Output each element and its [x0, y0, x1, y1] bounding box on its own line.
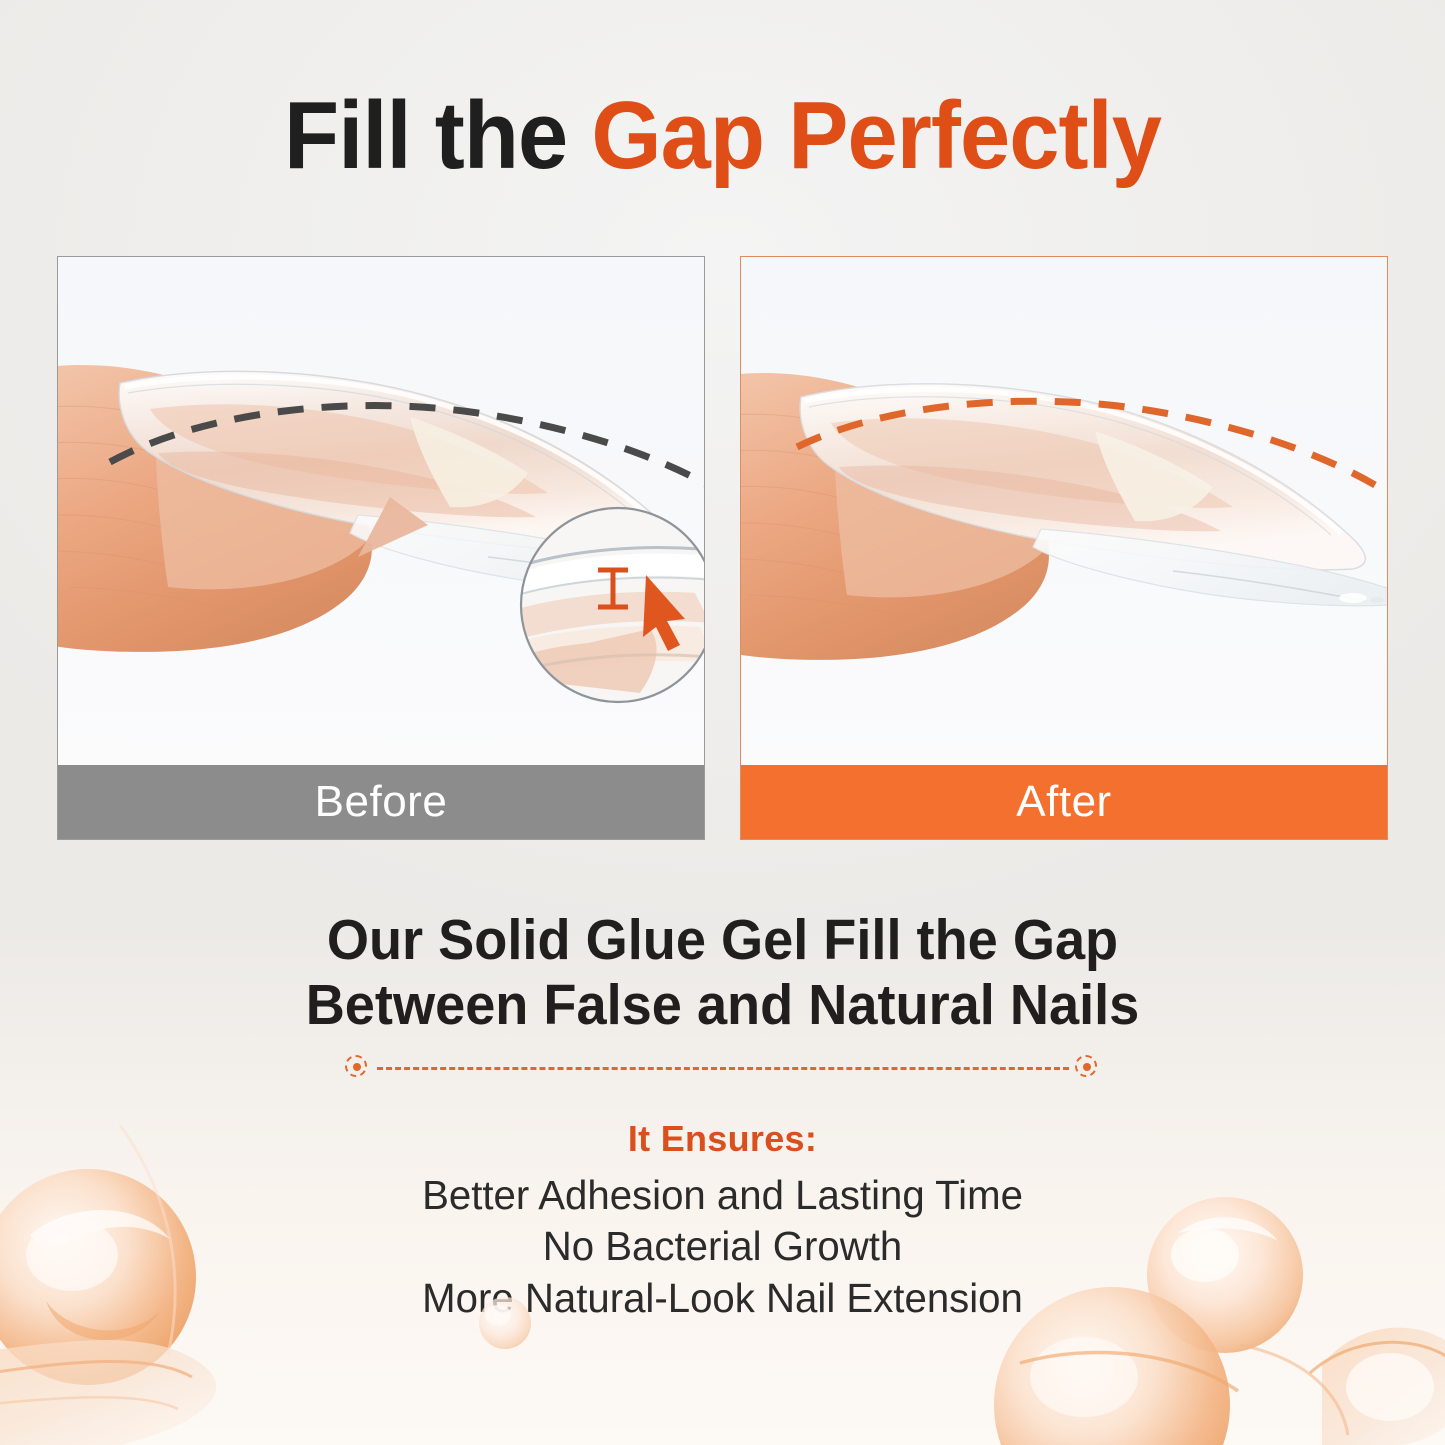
divider-left-dot-icon [343, 1053, 373, 1083]
subheading: Our Solid Glue Gel Fill the Gap Between … [36, 908, 1409, 1038]
before-label-text: Before [315, 777, 448, 827]
benefit-item: No Bacterial Growth [14, 1221, 1430, 1272]
after-photo [741, 257, 1387, 769]
after-illustration [741, 257, 1387, 769]
section-divider [343, 1050, 1103, 1086]
tip-gloss-2 [1370, 597, 1384, 603]
subheading-line-2: Between False and Natural Nails [36, 973, 1409, 1038]
panel-after: After [740, 256, 1388, 840]
comparison-panels: Before [57, 256, 1388, 840]
tip-gloss [1339, 593, 1367, 603]
divider-dashed-line [377, 1067, 1069, 1070]
after-label-bar: After [741, 765, 1387, 839]
page-title: Fill the Gap Perfectly [43, 88, 1401, 184]
divider-right-dot-icon [1073, 1053, 1103, 1083]
before-label-bar: Before [58, 765, 704, 839]
promo-image-root: Fill the Gap Perfectly [0, 0, 1445, 1445]
benefit-item: More Natural-Look Nail Extension [14, 1273, 1430, 1324]
subheading-line-1: Our Solid Glue Gel Fill the Gap [36, 908, 1409, 973]
benefit-item: Better Adhesion and Lasting Time [14, 1170, 1430, 1221]
title-part-dark: Fill the [284, 82, 591, 189]
title-part-accent: Gap Perfectly [591, 82, 1161, 189]
after-label-text: After [1016, 777, 1111, 827]
before-photo [58, 257, 704, 765]
panel-before: Before [57, 256, 705, 840]
benefits-block: It Ensures: Better Adhesion and Lasting … [0, 1118, 1445, 1324]
before-illustration [58, 257, 704, 765]
benefits-title: It Ensures: [0, 1118, 1445, 1160]
